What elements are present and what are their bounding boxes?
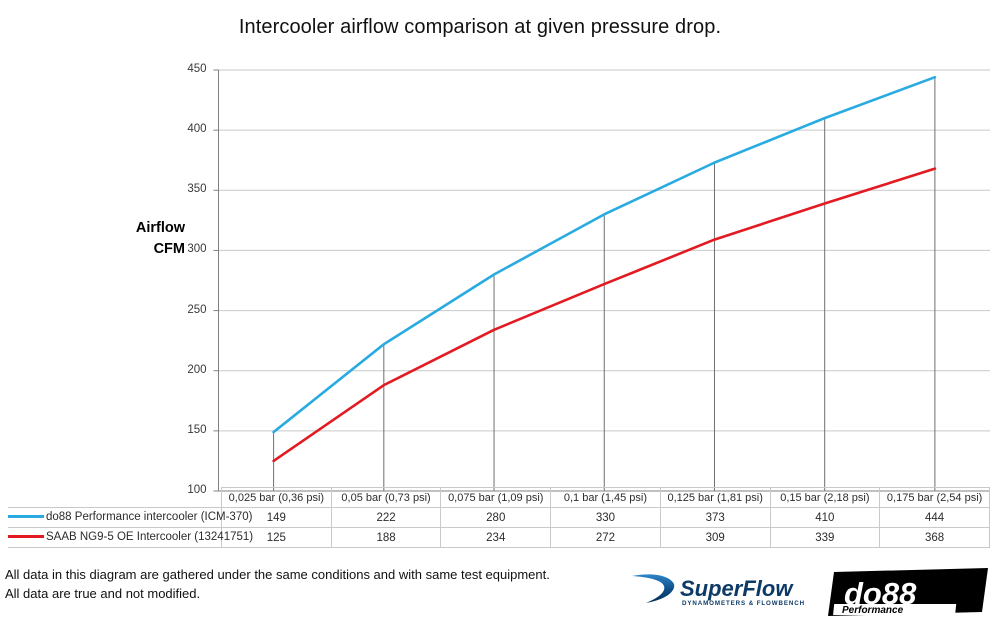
superflow-swoosh-icon (628, 574, 674, 603)
legend-swatch-icon (8, 515, 44, 518)
table-row: do88 Performance intercooler (ICM-370)14… (8, 508, 990, 528)
gridlines (214, 70, 991, 491)
superflow-wordmark: SuperFlow (680, 576, 794, 601)
do88-sub-wordmark: Performance (842, 605, 904, 616)
data-value: 368 (880, 528, 990, 548)
data-value: 330 (551, 508, 661, 528)
legend-entry-2[interactable]: SAAB NG9-5 OE Intercooler (13241751) (8, 528, 222, 548)
y-tick-label: 400 (165, 123, 207, 135)
data-value: 373 (660, 508, 770, 528)
data-value: 339 (770, 528, 880, 548)
y-tick-label: 350 (165, 183, 207, 195)
superflow-tagline: DYNAMOMETERS & FLOWBENCHES (682, 600, 804, 607)
y-tick-label: 300 (165, 243, 207, 255)
y-tick-label: 200 (165, 364, 207, 376)
legend-label: SAAB NG9-5 OE Intercooler (13241751) (46, 531, 253, 543)
y-tick-label: 450 (165, 63, 207, 75)
footer-line-1: All data in this diagram are gathered un… (5, 565, 625, 584)
data-value: 280 (441, 508, 551, 528)
y-tick-label: 250 (165, 304, 207, 316)
do88-logo: do88 Performance (828, 568, 993, 618)
data-table: 0,025 bar (0,36 psi)0,05 bar (0,73 psi)0… (8, 487, 990, 548)
legend-label: do88 Performance intercooler (ICM-370) (46, 511, 252, 523)
data-value: 410 (770, 508, 880, 528)
footer-note: All data in this diagram are gathered un… (5, 565, 625, 603)
y-tick-label: 150 (165, 424, 207, 436)
category-label-4: 0,1 bar (1,45 psi) (551, 488, 661, 508)
superflow-logo: SuperFlow DYNAMOMETERS & FLOWBENCHES (624, 570, 804, 612)
category-label-5: 0,125 bar (1,81 psi) (660, 488, 770, 508)
category-label-6: 0,15 bar (2,18 psi) (770, 488, 880, 508)
data-value: 444 (880, 508, 990, 528)
table-row-categories: 0,025 bar (0,36 psi)0,05 bar (0,73 psi)0… (8, 488, 990, 508)
legend-entry-1[interactable]: do88 Performance intercooler (ICM-370) (8, 508, 222, 528)
table-row: SAAB NG9-5 OE Intercooler (13241751)1251… (8, 528, 990, 548)
legend-swatch-icon (8, 535, 44, 538)
data-value: 234 (441, 528, 551, 548)
table-corner-cell (8, 488, 222, 508)
data-value: 222 (331, 508, 441, 528)
category-label-2: 0,05 bar (0,73 psi) (331, 488, 441, 508)
category-label-1: 0,025 bar (0,36 psi) (222, 488, 332, 508)
data-value: 272 (551, 528, 661, 548)
data-value: 309 (660, 528, 770, 548)
footer-line-2: All data are true and not modified. (5, 584, 625, 603)
category-label-7: 0,175 bar (2,54 psi) (880, 488, 990, 508)
data-value: 188 (331, 528, 441, 548)
category-label-3: 0,075 bar (1,09 psi) (441, 488, 551, 508)
